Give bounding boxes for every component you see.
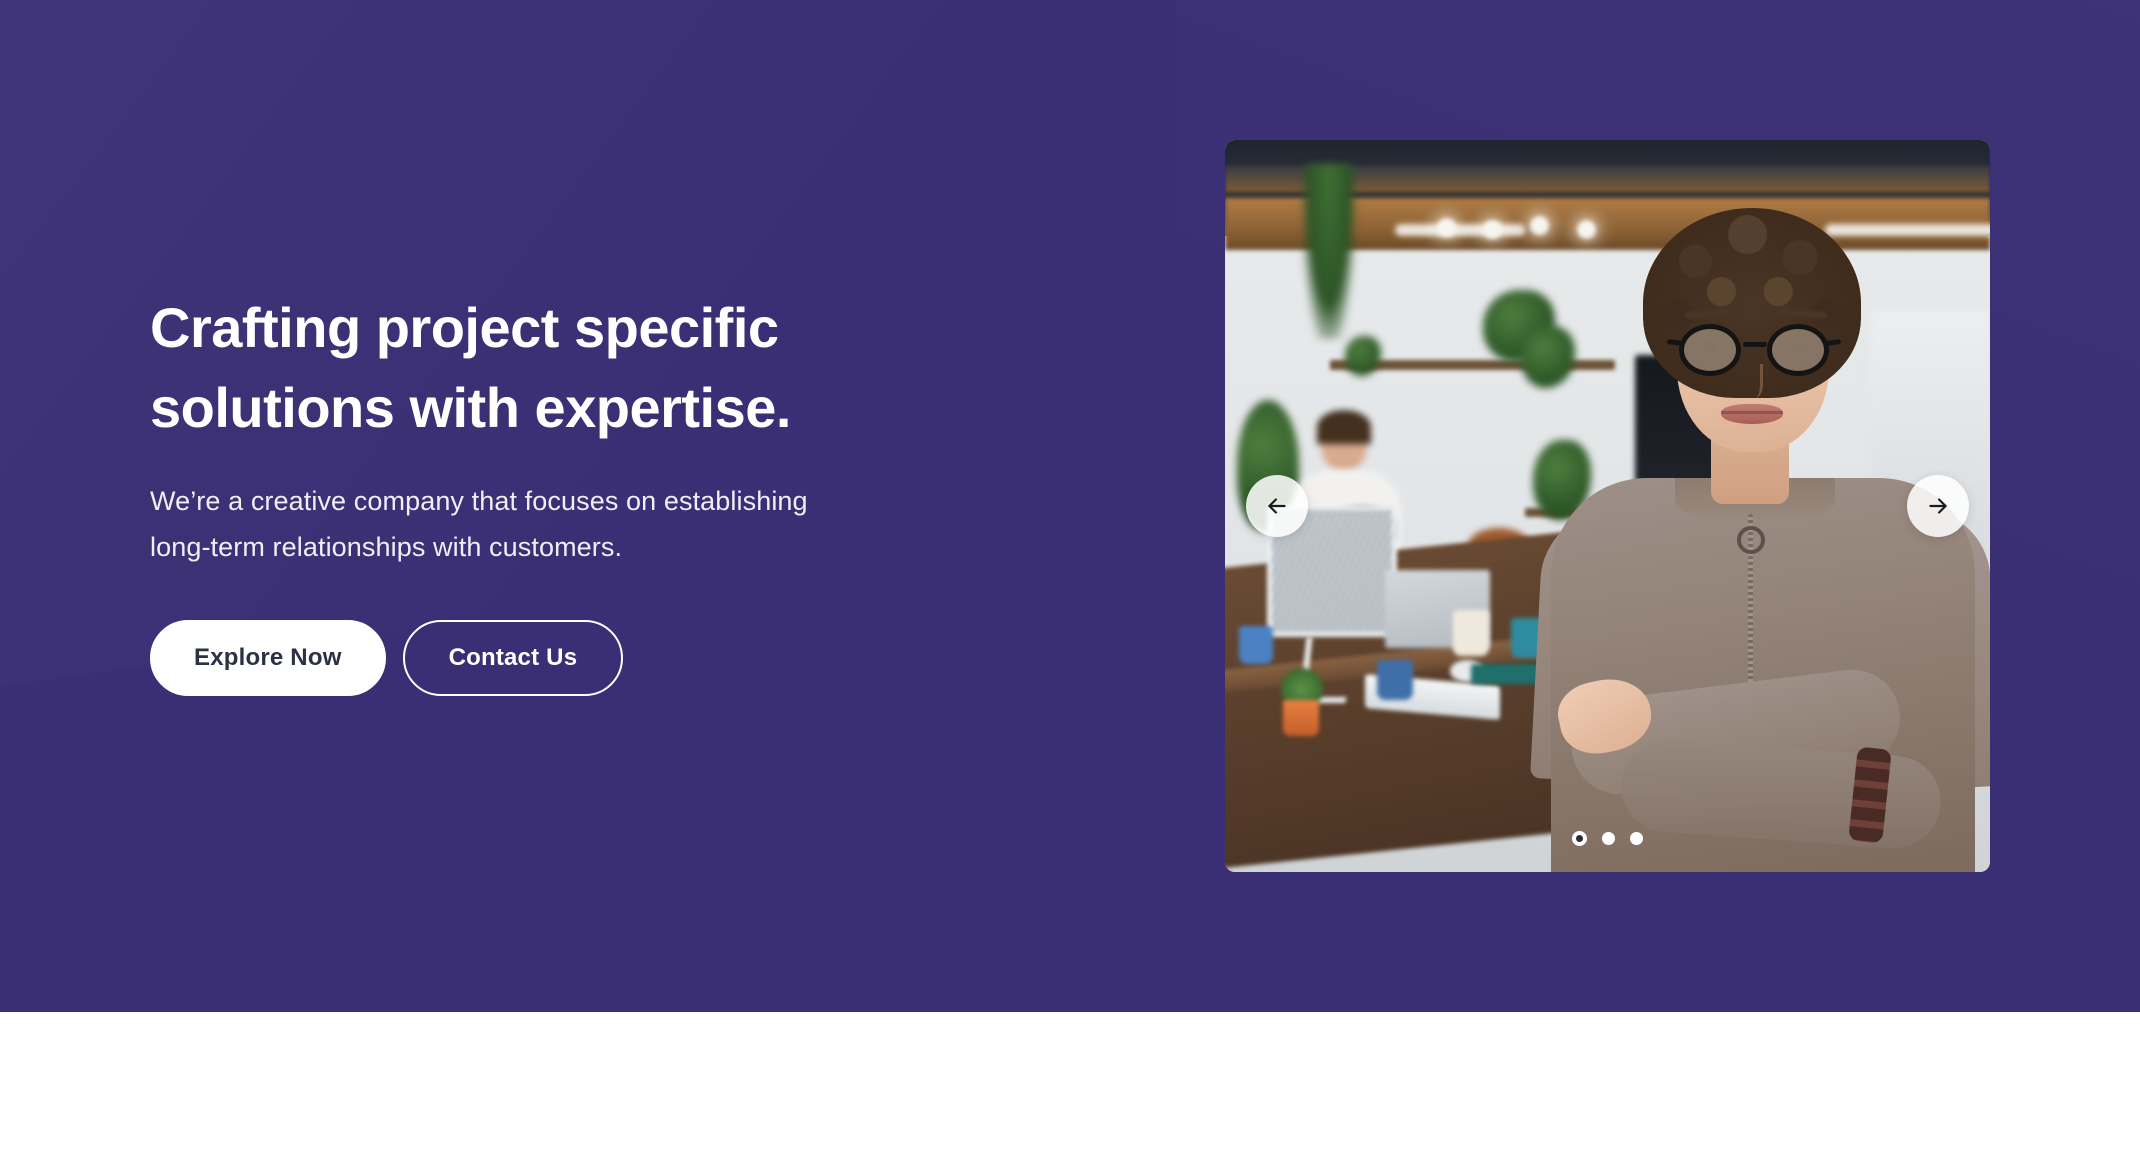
hanging-plant: [1303, 164, 1355, 339]
explore-now-button[interactable]: Explore Now: [150, 620, 386, 696]
eyeglasses: [1675, 324, 1833, 376]
arrow-right-icon: [1925, 493, 1951, 519]
notebook: [1471, 664, 1543, 684]
carousel-slide-image: [1225, 140, 1990, 872]
carousel-dot-3[interactable]: [1630, 832, 1643, 845]
person-lip-line: [1721, 411, 1783, 414]
carousel-pagination: [1225, 831, 1990, 846]
carousel-dot-2[interactable]: [1602, 832, 1615, 845]
contact-us-button[interactable]: Contact Us: [403, 620, 624, 696]
coffee-mug: [1453, 610, 1489, 656]
hero-page: Crafting project specific solutions with…: [0, 0, 2140, 1154]
arrow-left-icon: [1264, 493, 1290, 519]
glasses-lens: [1767, 324, 1829, 376]
background-person-hair: [1317, 410, 1371, 444]
terracotta-pot: [1283, 700, 1319, 736]
person-mouth: [1721, 404, 1783, 424]
section-below-hero: [0, 1012, 2140, 1154]
hero-section: Crafting project specific solutions with…: [0, 0, 2140, 1012]
hero-carousel: [1225, 140, 1990, 872]
hero-copy-block: Crafting project specific solutions with…: [150, 288, 970, 696]
coffee-mug: [1377, 660, 1413, 700]
zipper-pull-icon: [1737, 526, 1765, 554]
spot-light: [1437, 218, 1456, 237]
track-light: [1395, 224, 1525, 236]
carousel-dot-1[interactable]: [1572, 831, 1587, 846]
page-title: Crafting project specific solutions with…: [150, 288, 970, 448]
carousel-next-button[interactable]: [1907, 475, 1969, 537]
hero-subcopy: We’re a creative company that focuses on…: [150, 478, 970, 570]
cta-button-group: Explore Now Contact Us: [150, 620, 970, 696]
carousel-prev-button[interactable]: [1246, 475, 1308, 537]
spot-light: [1483, 220, 1502, 239]
coffee-mug: [1239, 626, 1273, 664]
glasses-bridge: [1743, 342, 1767, 347]
glasses-lens: [1679, 324, 1741, 376]
